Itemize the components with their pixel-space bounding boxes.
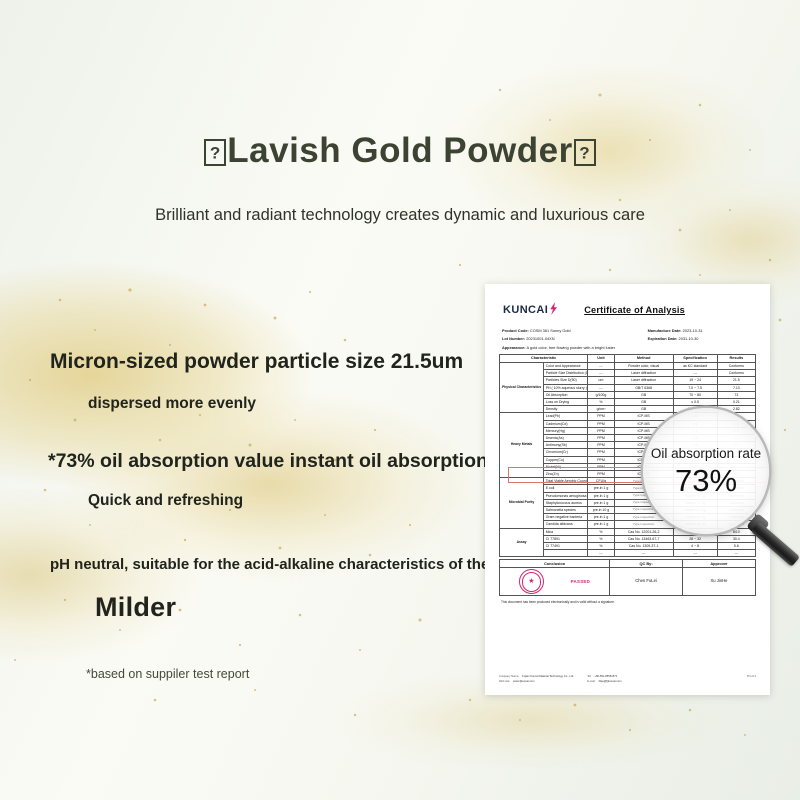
cell-specification: 19 ~ 24 <box>673 377 717 384</box>
cell-characteristic: PH ( 10% aqueous slurry ) <box>544 384 588 391</box>
cell-unit: % <box>588 543 614 550</box>
feature-2-sub: Quick and refreshing <box>88 492 243 510</box>
cell-specification: as KC standard <box>673 362 717 369</box>
verdict-cell: ★ PASSED <box>500 568 610 596</box>
company-name-value: Fujian Kuncai Material Technology Co., L… <box>522 675 573 678</box>
cell-characteristic <box>544 550 588 557</box>
cell-unit: --- <box>588 384 614 391</box>
stamp-inner-ring <box>522 572 542 592</box>
manufacture-date-field: Manufacture Date: 2023-10-31 <box>648 329 753 334</box>
gold-dust-bottom <box>330 680 800 800</box>
cell-characteristic: Lead(Pb) <box>544 413 588 420</box>
missing-glyph-close-icon <box>574 139 596 166</box>
cell-unit: % <box>588 398 614 405</box>
website-label: Web site: <box>499 680 510 683</box>
cell-unit: % <box>588 528 614 535</box>
cell-characteristic: Loss on Drying <box>544 398 588 405</box>
certificate-header: KUNCAI Certificate of Analysis <box>499 300 756 320</box>
cell-results: Conforms <box>717 362 755 369</box>
coa-table-head: Characteristic Unit Method Specification… <box>500 355 756 363</box>
coa-group-label: Microbial Purity <box>500 478 544 528</box>
magnifier-content: Oil absorption rate 73% <box>646 411 766 531</box>
cell-characteristic: Pseudomonas aeruginosa <box>544 492 588 499</box>
company-name-label: Company Name: <box>499 675 519 678</box>
feature-2-headline: *73% oil absorption value instant oil ab… <box>48 450 488 473</box>
email-row: E-mail: fdee@fjkuncai.com <box>587 680 621 683</box>
cell-characteristic: Total Viable Aerobic Count <box>544 478 588 485</box>
email-value: fdee@fjkuncai.com <box>599 680 622 683</box>
cell-method: Powder color, visual <box>614 362 673 369</box>
cell-unit: pre.in 1 g <box>588 499 614 506</box>
tel-row: Tel: +86-591-85551571 <box>587 675 621 678</box>
cell-characteristic: Oil Absorption <box>544 391 588 398</box>
col-method: Method <box>614 355 673 363</box>
coa-header-row: Characteristic Unit Method Specification… <box>500 355 756 363</box>
conclusion-body-row: ★ PASSED Chen FuLei Xu JinHe <box>500 568 756 596</box>
cell-characteristic: Mercury(Hg) <box>544 427 588 434</box>
manufacture-date-label: Manufacture Date: <box>648 328 682 333</box>
cell-results: Conforms <box>717 370 755 377</box>
meta-row: Product Code: COSM 361 Sunny Gold Manufa… <box>502 329 753 334</box>
cell-characteristic: Zinc(Zn) <box>544 470 588 477</box>
cell-results: 21.5 <box>717 377 755 384</box>
certificate-disclaimer: This document has been produced electron… <box>499 600 756 604</box>
footnote: *based on suppiler test report <box>86 667 249 681</box>
cell-characteristic: Antimony(Sb) <box>544 442 588 449</box>
cell-characteristic: Staphylococcus aureus <box>544 499 588 506</box>
cell-unit: CFU/g <box>588 478 614 485</box>
cell-specification: --- <box>673 370 717 377</box>
cell-unit: pre.in 1 g <box>588 521 614 528</box>
cell-characteristic: CI 77891 <box>544 535 588 542</box>
kuncai-logo: KUNCAI <box>503 302 558 320</box>
cell-unit: PPM <box>588 434 614 441</box>
cell-characteristic: Particle Size Distribution (10 ~ 100) um <box>544 370 588 377</box>
cell-results: 7.13 <box>717 384 755 391</box>
cell-characteristic: Salmonella species <box>544 506 588 513</box>
lot-number-field: Lot Number: 20231001-04XN <box>502 337 643 342</box>
cell-specification: ≤ 0.5 <box>673 398 717 405</box>
email-label: E-mail: <box>587 680 595 683</box>
cell-unit: PPM <box>588 470 614 477</box>
cell-characteristic: Color and Appearance <box>544 362 588 369</box>
cell-unit: --- <box>588 550 614 557</box>
cell-unit: um <box>588 377 614 384</box>
cell-unit: PPM <box>588 463 614 470</box>
missing-glyph-open-icon <box>204 139 226 166</box>
feature-3-sub: Milder <box>95 592 176 623</box>
cell-unit: --- <box>588 362 614 369</box>
cell-unit: PPM <box>588 442 614 449</box>
magnifier-lens-icon: Oil absorption rate 73% <box>643 408 769 534</box>
oil-absorption-rate-label: Oil absorption rate <box>651 446 761 461</box>
cell-method: GB/T 6368 <box>614 384 673 391</box>
page-title: Lavish Gold Powder <box>0 131 800 171</box>
product-code-field: Product Code: COSM 361 Sunny Gold <box>502 329 643 334</box>
cell-method: Laser diffraction <box>614 377 673 384</box>
cell-unit: pre.in 1 g <box>588 485 614 492</box>
cell-method: GB <box>614 398 673 405</box>
kuncai-logo-text: KUNCAI <box>503 304 548 318</box>
verdict-value: PASSED <box>571 579 591 584</box>
cell-specification: 70 ~ 80 <box>673 391 717 398</box>
appearance-label: Appearance: <box>502 345 526 350</box>
col-unit: Unit <box>588 355 614 363</box>
feature-1-headline: Micron-sized powder particle size 21.5um <box>50 350 463 374</box>
certificate-title: Certificate of Analysis <box>584 305 685 317</box>
company-name-row: Company Name: Fujian Kuncai Material Tec… <box>499 675 573 678</box>
cell-unit: pre.in 1 g <box>588 492 614 499</box>
cell-characteristic: Candida albicans <box>544 521 588 528</box>
website-value: www.fjkuncai.com <box>513 680 534 683</box>
approval-stamp-icon: ★ <box>519 569 544 594</box>
approver-value: Xu JinHe <box>683 568 756 596</box>
cell-method: Laser diffraction <box>614 370 673 377</box>
manufacture-date-value: 2023-10-31 <box>683 328 703 333</box>
cell-unit: g/100g <box>588 391 614 398</box>
cell-results: 73 <box>717 391 755 398</box>
cell-unit: PPM <box>588 456 614 463</box>
cell-unit: PPM <box>588 449 614 456</box>
cell-unit: pre.in 1 g <box>588 514 614 521</box>
conclusion-label: Conclusion <box>500 560 610 568</box>
cell-characteristic: Density <box>544 406 588 413</box>
coa-group-label: Assay <box>500 528 544 557</box>
footer-company-column: Company Name: Fujian Kuncai Material Tec… <box>499 675 573 685</box>
cell-characteristic: Nickel(Ni) <box>544 463 588 470</box>
product-code-label: Product Code: <box>502 328 529 333</box>
cell-characteristic: Particles Size D(50) <box>544 377 588 384</box>
lightning-bolt-icon <box>549 302 558 320</box>
col-specification: Specification <box>673 355 717 363</box>
cell-characteristic: Cadmium(Cd) <box>544 420 588 427</box>
magnifier-callout: Oil absorption rate 73% <box>643 408 800 568</box>
cell-unit: --- <box>588 370 614 377</box>
page-number: P.1 of 1 <box>747 675 756 685</box>
cell-characteristic: Chromium(Cr) <box>544 449 588 456</box>
tel-label: Tel: <box>587 675 591 678</box>
cell-characteristic: CI 77491 <box>544 543 588 550</box>
coa-group-label: Physical Characteristics <box>500 362 544 412</box>
expiration-date-field: Expiration Date: 2031-10-30 <box>648 337 753 342</box>
col-results: Results <box>717 355 755 363</box>
poster-canvas: Lavish Gold Powder Brilliant and radiant… <box>0 0 800 800</box>
page-title-text: Lavish Gold Powder <box>227 131 572 170</box>
cell-results: 0.21 <box>717 398 755 405</box>
cell-unit: % <box>588 535 614 542</box>
tel-value: +86-591-85551571 <box>594 675 617 678</box>
qc-by-value: Chen FuLei <box>610 568 683 596</box>
product-code-value: COSM 361 Sunny Gold <box>530 328 571 333</box>
cell-method: GB <box>614 391 673 398</box>
cell-characteristic: Gram negative bacteria <box>544 514 588 521</box>
lot-number-label: Lot Number: <box>502 336 525 341</box>
expiration-date-label: Expiration Date: <box>648 336 678 341</box>
certificate-footer: Company Name: Fujian Kuncai Material Tec… <box>499 675 756 685</box>
cell-characteristic: Copper(Cu) <box>544 456 588 463</box>
appearance-field: Appearance: A gold color, free flowing p… <box>499 346 756 351</box>
feature-3-headline: pH neutral, suitable for the acid-alkali… <box>50 556 532 573</box>
appearance-value: A gold color, free flowing powder with a… <box>526 345 615 350</box>
coa-group-label: Heavy Metals <box>500 413 544 478</box>
footer-contact-column: Tel: +86-591-85551571 E-mail: fdee@fjkun… <box>587 675 621 685</box>
oil-absorption-rate-value: 73% <box>675 465 737 496</box>
col-characteristic: Characteristic <box>500 355 588 363</box>
cell-unit: PPM <box>588 427 614 434</box>
cell-unit: PPM <box>588 413 614 420</box>
cell-unit: pre.in 10 g <box>588 506 614 513</box>
cell-characteristic: Mica <box>544 528 588 535</box>
feature-1-sub: dispersed more evenly <box>88 395 256 413</box>
website-row: Web site: www.fjkuncai.com <box>499 680 573 683</box>
table-row: Physical CharacteristicsColor and Appear… <box>500 362 756 369</box>
cell-characteristic: E.coli <box>544 485 588 492</box>
meta-row: Lot Number: 20231001-04XN Expiration Dat… <box>502 337 753 342</box>
lot-number-value: 20231001-04XN <box>526 336 554 341</box>
cell-specification: 7.0 ~ 7.5 <box>673 384 717 391</box>
cell-unit: g/cm³ <box>588 406 614 413</box>
cell-characteristic: Arsenic(As) <box>544 434 588 441</box>
cell-unit: PPM <box>588 420 614 427</box>
expiration-date-value: 2031-10-30 <box>679 336 699 341</box>
page-subtitle: Brilliant and radiant technology creates… <box>0 206 800 225</box>
certificate-meta: Product Code: COSM 361 Sunny Gold Manufa… <box>499 329 756 342</box>
